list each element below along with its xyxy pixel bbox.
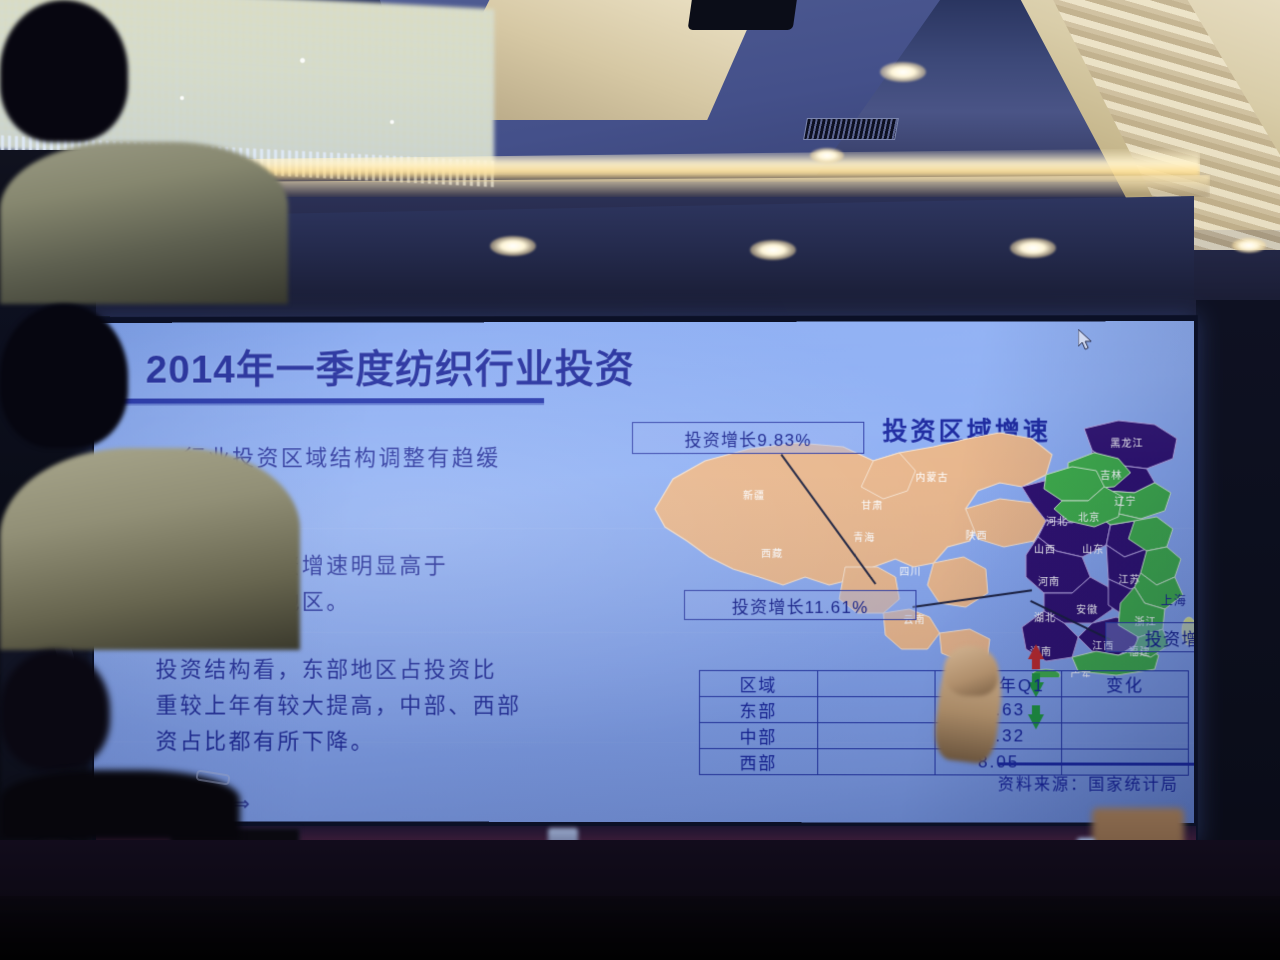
cell-region: 东部 xyxy=(700,697,818,723)
cell-prev xyxy=(817,749,935,775)
cell-change xyxy=(1062,697,1189,723)
arrow-up-icon xyxy=(1028,644,1044,659)
wall-right-dark xyxy=(1196,300,1280,840)
callout-west-growth: 投资增长9.83% xyxy=(632,422,864,454)
callout-east-growth: 投资增长13.64% xyxy=(1105,622,1194,652)
map-region-west xyxy=(655,433,1078,662)
province-label-neimenggu: 内蒙古 xyxy=(915,471,948,484)
province-label-shandong: 山东 xyxy=(1082,543,1104,556)
province-label-anhui: 安徽 xyxy=(1076,603,1098,616)
mouse-pointer-icon xyxy=(1078,329,1094,351)
chandelier-sparkle xyxy=(390,120,394,124)
recessed-downlight xyxy=(750,240,796,260)
cell-prev xyxy=(817,697,935,723)
province-label-henan: 河南 xyxy=(1038,575,1060,588)
recessed-downlight xyxy=(490,236,536,256)
title-underline-thin xyxy=(106,403,544,405)
province-label-beijing: 北京 xyxy=(1078,511,1100,524)
province-label-liaoning: 辽宁 xyxy=(1114,495,1136,508)
province-label-shanxi: 山西 xyxy=(1034,544,1056,556)
cell-change xyxy=(1062,723,1189,749)
cell-prev xyxy=(817,723,935,749)
province-label-sichuan: 四川 xyxy=(899,567,921,578)
chandelier-sparkle xyxy=(300,58,305,63)
audience-member-body xyxy=(0,142,288,304)
recessed-downlight xyxy=(880,62,926,82)
province-label-hebei: 河北 xyxy=(1046,516,1068,528)
slide-title: 2014年一季度纺织行业投资 xyxy=(146,338,635,395)
province-label-xinjiang: 新疆 xyxy=(743,489,765,502)
table-header-change: 变化 xyxy=(1062,671,1189,697)
province-label-qinghai: 青海 xyxy=(853,531,875,544)
audience-member-head xyxy=(0,0,128,142)
chandelier-sparkle xyxy=(180,96,184,100)
recessed-downlight xyxy=(1232,238,1266,253)
source-note: 资料来源：国家统计局 xyxy=(998,770,1179,794)
province-label-gansu: 甘肃 xyxy=(861,499,883,512)
audience-member-head xyxy=(0,650,110,770)
hvac-vent xyxy=(803,118,899,140)
ceiling-speaker xyxy=(688,0,798,30)
photo-scene: 2014年一季度纺织行业投资 行业投资区域结构调整有趋缓 表现 东部地区投资增速… xyxy=(0,0,1280,960)
province-label-hubei: 湖北 xyxy=(1034,612,1056,624)
province-label-shanghai: 上海 xyxy=(1161,593,1187,608)
cell-region: 西部 xyxy=(700,749,818,775)
province-label-heilongjiang: 黑龙江 xyxy=(1110,437,1143,450)
province-label-shaanxi: 陕西 xyxy=(966,529,988,542)
recessed-downlight xyxy=(810,148,844,163)
callout-central-growth: 投资增长11.61% xyxy=(684,590,916,620)
slide-bullet-3: 投资结构看，东部地区占投资比 重较上年有较大提高，中部、西部 资占比都有所下降。 xyxy=(156,652,664,760)
source-rule xyxy=(998,762,1194,765)
province-label-jilin: 吉林 xyxy=(1100,469,1122,482)
recessed-downlight xyxy=(1010,238,1056,258)
table-header-prev xyxy=(817,671,935,697)
province-label-jiangsu: 江苏 xyxy=(1118,573,1140,586)
audience-member-head xyxy=(0,304,128,448)
audience-member-body xyxy=(0,448,300,650)
table-header-region: 区域 xyxy=(700,671,818,697)
bottom-shadow-overlay xyxy=(0,896,1280,960)
cell-region: 中部 xyxy=(700,723,818,749)
audience-member-hand xyxy=(944,646,998,696)
province-label-xizang: 西藏 xyxy=(761,548,783,560)
